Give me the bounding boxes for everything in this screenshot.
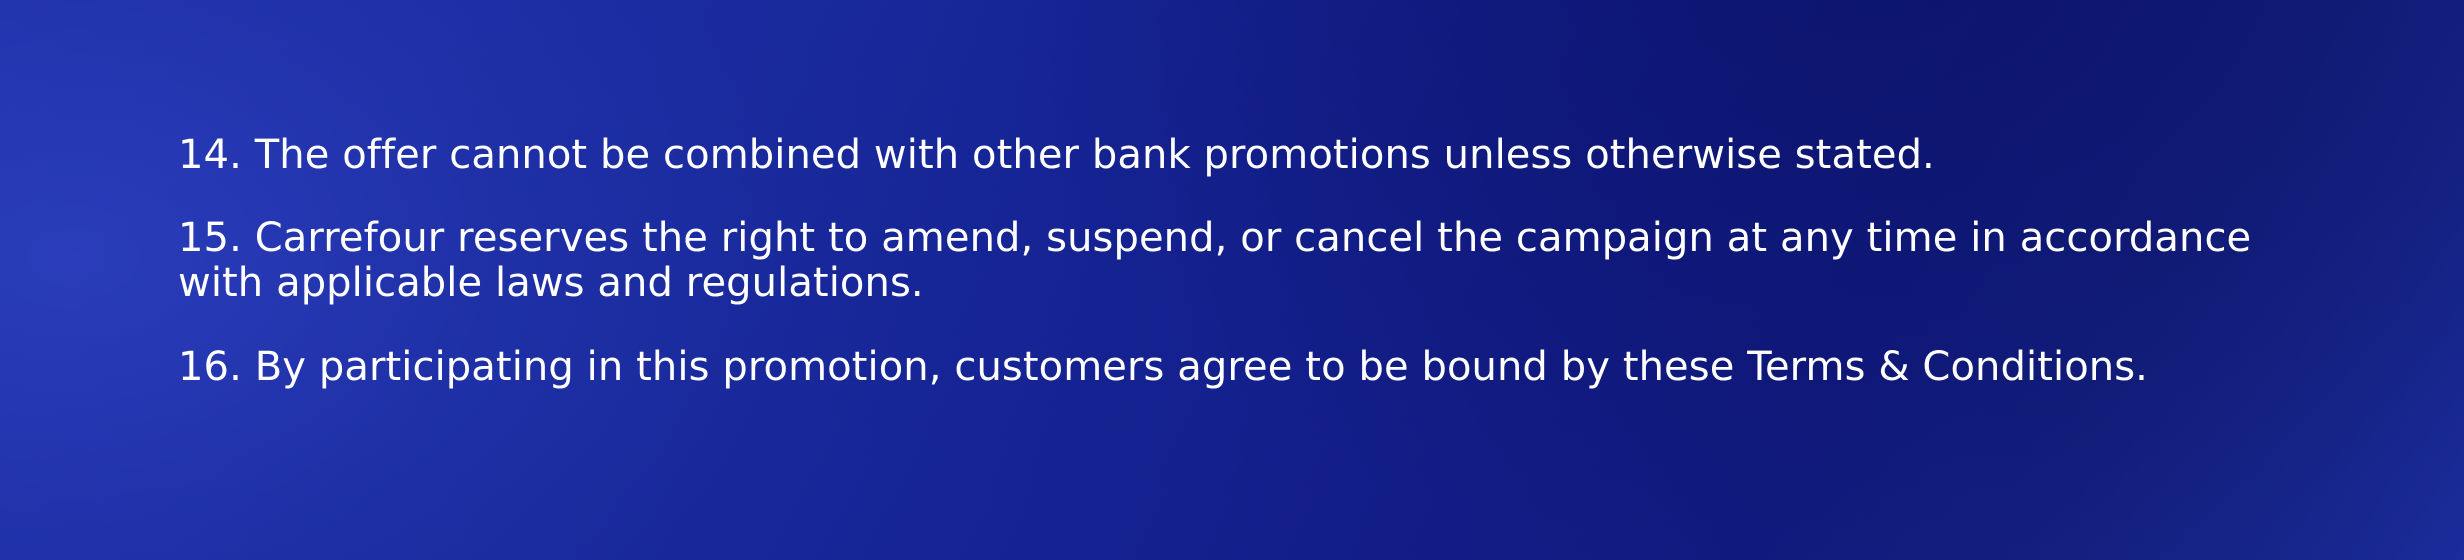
terms-list: 14. The offer cannot be combined with ot… <box>178 132 2344 390</box>
list-item: 16. By participating in this promotion, … <box>178 344 2344 390</box>
list-item: 15. Carrefour reserves the right to amen… <box>178 216 2344 306</box>
list-item: 14. The offer cannot be combined with ot… <box>178 132 2344 178</box>
terms-conditions-slide: 14. The offer cannot be combined with ot… <box>0 0 2464 560</box>
